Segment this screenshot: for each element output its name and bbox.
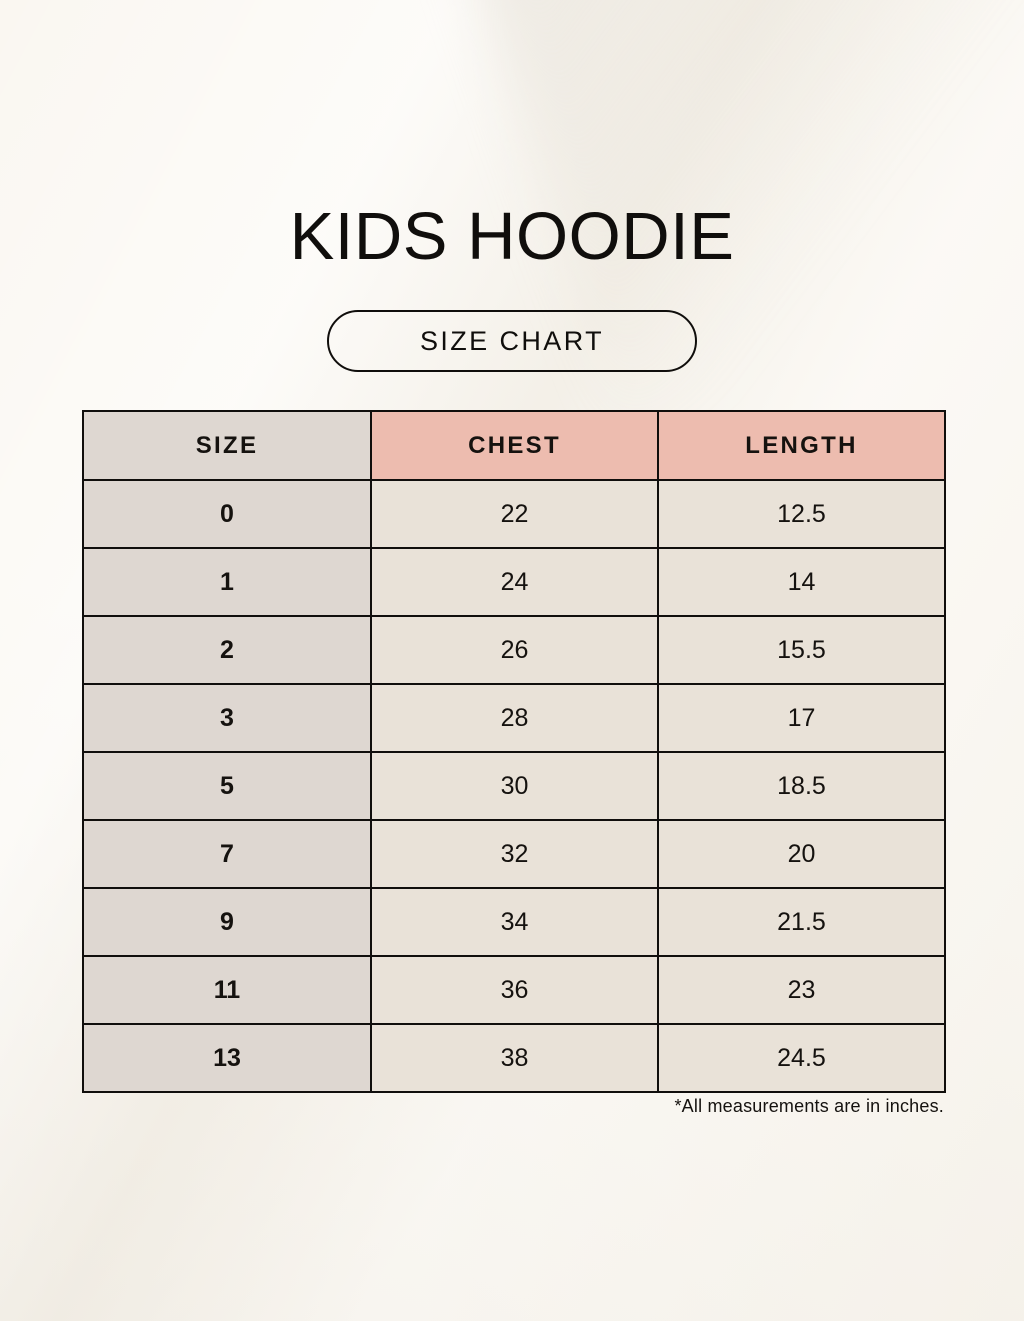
measurement-footnote: *All measurements are in inches.: [0, 1096, 944, 1117]
cell-size: 0: [83, 480, 371, 548]
column-header-chest: CHEST: [371, 411, 658, 480]
table-row: 53018.5: [83, 752, 945, 820]
cell-length: 18.5: [658, 752, 945, 820]
cell-chest: 24: [371, 548, 658, 616]
table-row: 32817: [83, 684, 945, 752]
size-chart-badge-label: SIZE CHART: [420, 326, 604, 357]
size-table-body: 02212.51241422615.53281753018.5732209342…: [83, 480, 945, 1092]
page-title: KIDS HOODIE: [0, 200, 1024, 274]
cell-size: 7: [83, 820, 371, 888]
cell-size: 9: [83, 888, 371, 956]
cell-length: 17: [658, 684, 945, 752]
cell-length: 23: [658, 956, 945, 1024]
cell-chest: 38: [371, 1024, 658, 1092]
table-header-row: SIZE CHEST LENGTH: [83, 411, 945, 480]
table-row: 22615.5: [83, 616, 945, 684]
size-chart-page: KIDS HOODIE SIZE CHART SIZE CHEST LENGTH…: [0, 0, 1024, 1321]
cell-chest: 36: [371, 956, 658, 1024]
table-row: 113623: [83, 956, 945, 1024]
cell-size: 1: [83, 548, 371, 616]
table-row: 133824.5: [83, 1024, 945, 1092]
cell-length: 20: [658, 820, 945, 888]
cell-length: 21.5: [658, 888, 945, 956]
cell-chest: 32: [371, 820, 658, 888]
cell-chest: 26: [371, 616, 658, 684]
cell-chest: 22: [371, 480, 658, 548]
column-header-length: LENGTH: [658, 411, 945, 480]
table-row: 73220: [83, 820, 945, 888]
cell-chest: 30: [371, 752, 658, 820]
cell-length: 15.5: [658, 616, 945, 684]
cell-size: 13: [83, 1024, 371, 1092]
table-row: 93421.5: [83, 888, 945, 956]
cell-size: 11: [83, 956, 371, 1024]
table-row: 12414: [83, 548, 945, 616]
cell-length: 12.5: [658, 480, 945, 548]
size-table-container: SIZE CHEST LENGTH 02212.51241422615.5328…: [82, 410, 944, 1093]
cell-chest: 28: [371, 684, 658, 752]
cell-size: 5: [83, 752, 371, 820]
table-row: 02212.5: [83, 480, 945, 548]
size-chart-badge: SIZE CHART: [327, 310, 697, 372]
cell-size: 2: [83, 616, 371, 684]
column-header-size: SIZE: [83, 411, 371, 480]
size-table-header: SIZE CHEST LENGTH: [83, 411, 945, 480]
size-table: SIZE CHEST LENGTH 02212.51241422615.5328…: [82, 410, 946, 1093]
cell-chest: 34: [371, 888, 658, 956]
cell-size: 3: [83, 684, 371, 752]
cell-length: 14: [658, 548, 945, 616]
cell-length: 24.5: [658, 1024, 945, 1092]
